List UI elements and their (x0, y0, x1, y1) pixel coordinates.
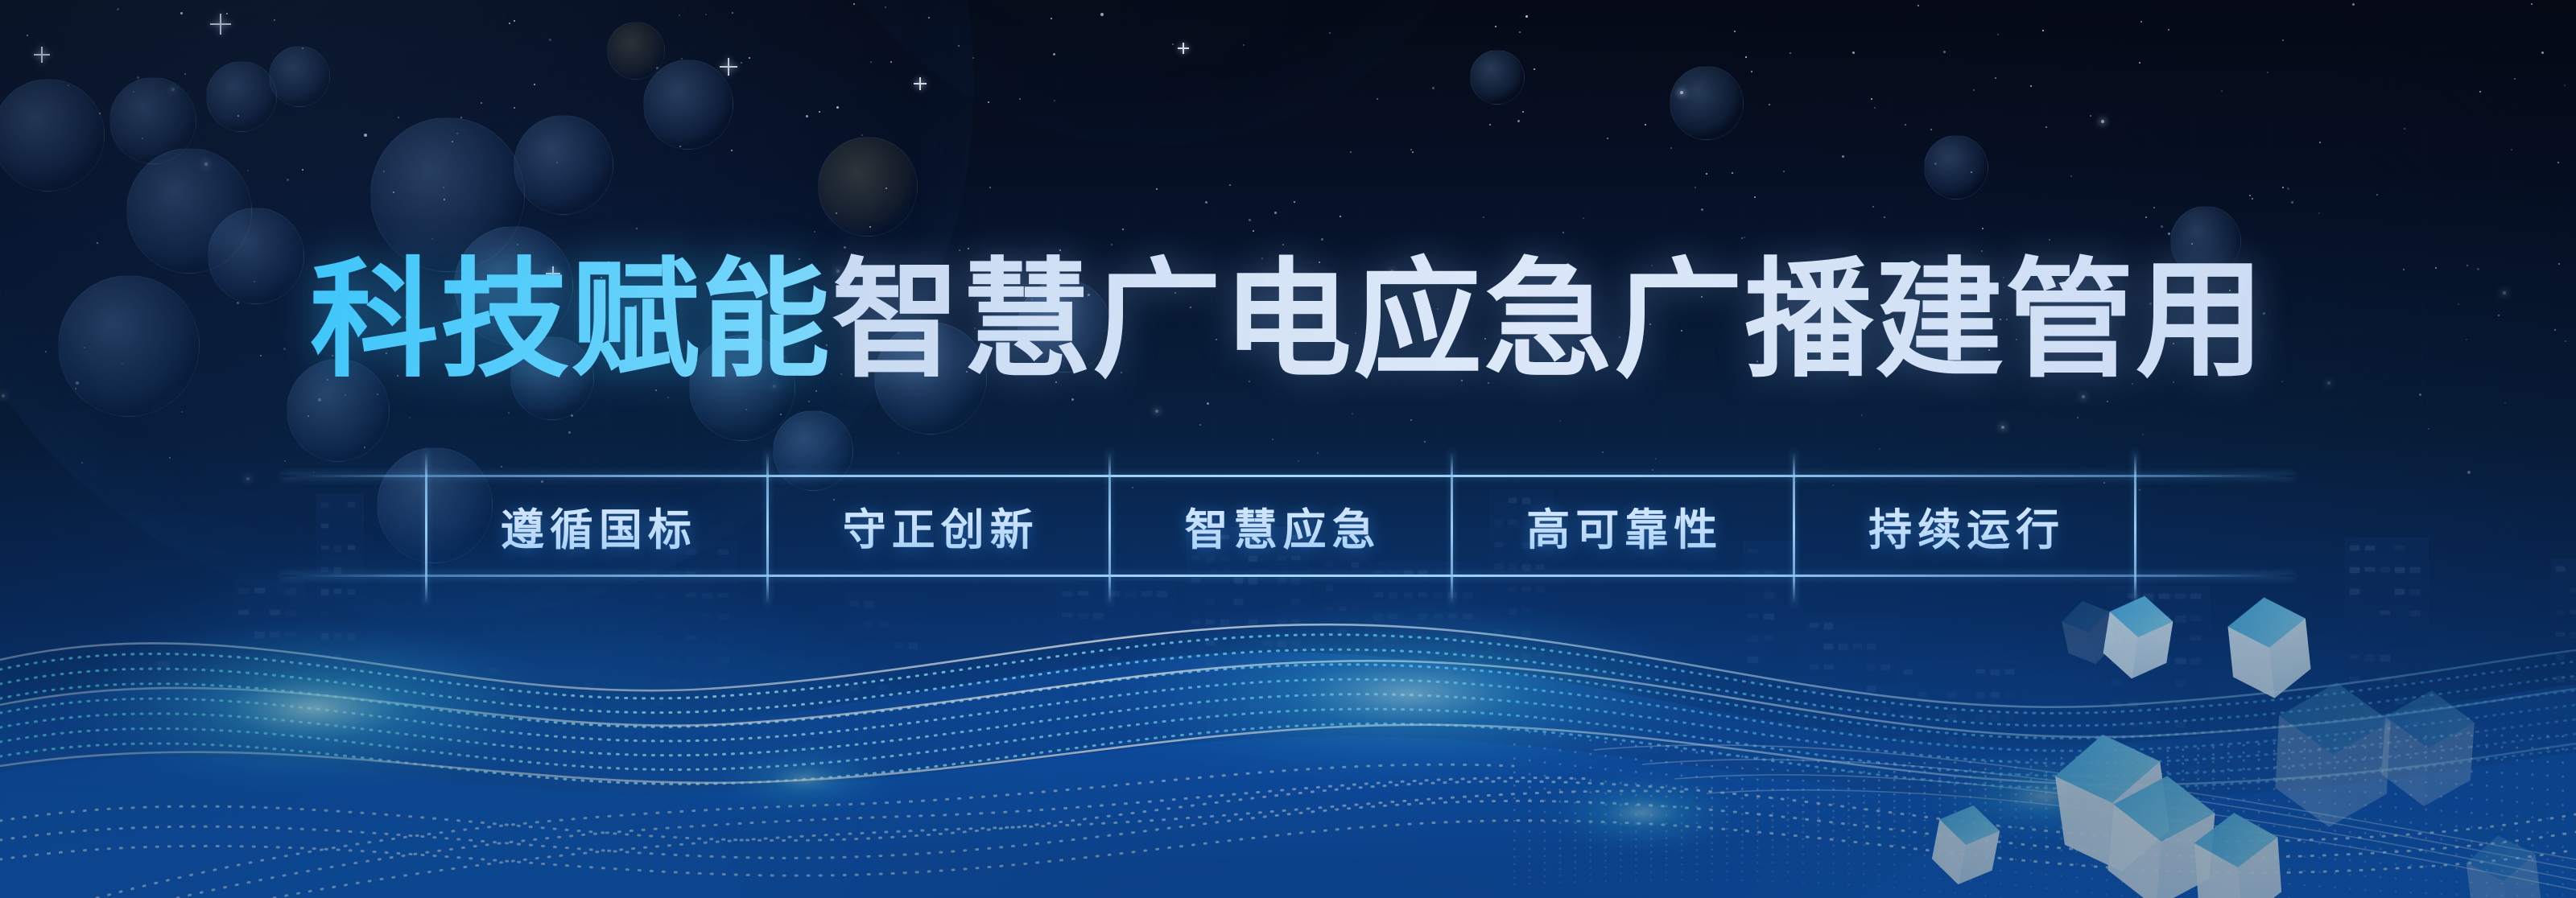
feature-tag-3[interactable]: 智慧应急 (1109, 477, 1451, 575)
feature-tag-1[interactable]: 遵循国标 (425, 477, 767, 575)
hero-title-main: 智慧广电应急广播建管用 (832, 245, 2266, 395)
hero-title: 科技赋能智慧广电应急广播建管用 (310, 256, 2266, 385)
feature-tag-4[interactable]: 高可靠性 (1451, 477, 1793, 575)
banner-content: 科技赋能智慧广电应急广播建管用 遵循国标 守正创新 智慧应急 高可靠性 持续运行 (0, 0, 2576, 898)
feature-tag-bar: 遵循国标 守正创新 智慧应急 高可靠性 持续运行 (425, 477, 2135, 575)
hero-title-wrap: 科技赋能智慧广电应急广播建管用 (0, 256, 2576, 385)
feature-tag-5[interactable]: 持续运行 (1793, 477, 2135, 575)
feature-tag-label: 高可靠性 (1521, 494, 1723, 558)
feature-tag-label: 守正创新 (837, 494, 1039, 558)
feature-tag-label: 智慧应急 (1179, 494, 1381, 558)
tagbar-bottom-rule (282, 575, 2294, 577)
feature-tag-label: 遵循国标 (495, 494, 697, 558)
hero-title-accent: 科技赋能 (310, 245, 832, 395)
feature-tag-2[interactable]: 守正创新 (767, 477, 1109, 575)
hero-banner: 科技赋能智慧广电应急广播建管用 遵循国标 守正创新 智慧应急 高可靠性 持续运行 (0, 0, 2576, 898)
feature-tag-label: 持续运行 (1863, 494, 2065, 558)
